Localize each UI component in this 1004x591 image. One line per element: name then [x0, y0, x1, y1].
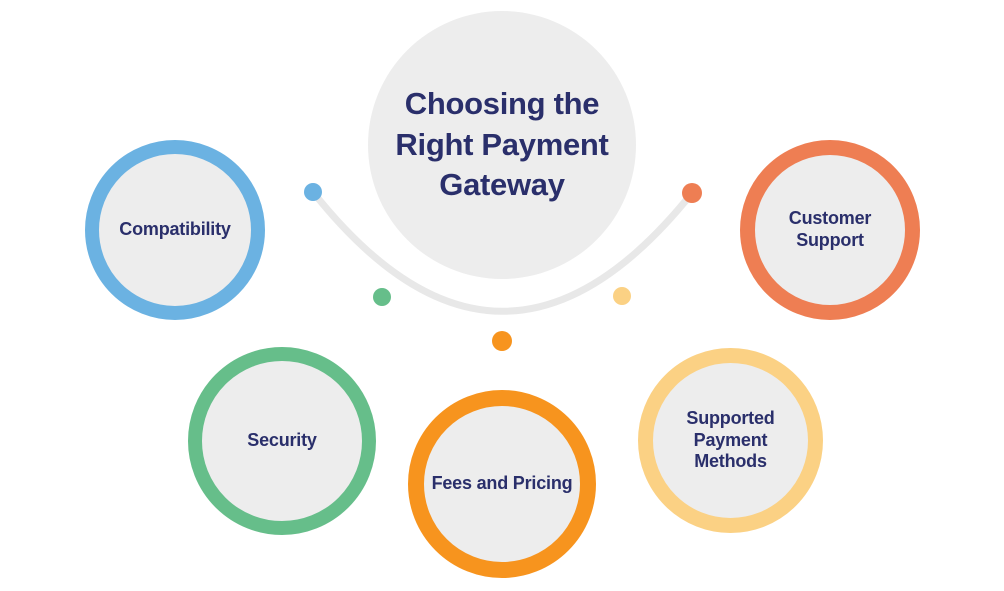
node-customer-support-label: Customer Support	[755, 208, 905, 252]
connector-dot-compatibility	[304, 183, 322, 201]
connector-dot-security	[373, 288, 391, 306]
node-compatibility-label: Compatibility	[113, 219, 236, 241]
center-hub-label: Choosing the Right Payment Gateway	[368, 84, 636, 207]
node-supported-payment-methods-label: Supported Payment Methods	[653, 408, 808, 474]
node-security-label: Security	[241, 430, 322, 452]
connector-dot-fees-pricing	[492, 331, 512, 351]
node-security[interactable]: Security	[188, 347, 376, 535]
infographic-canvas: Choosing the Right Payment Gateway Compa…	[0, 0, 1004, 591]
node-compatibility[interactable]: Compatibility	[85, 140, 265, 320]
node-customer-support[interactable]: Customer Support	[740, 140, 920, 320]
connector-dot-payment-methods	[613, 287, 631, 305]
connector-dot-customer-support	[682, 183, 702, 203]
node-supported-payment-methods[interactable]: Supported Payment Methods	[638, 348, 823, 533]
node-fees-and-pricing[interactable]: Fees and Pricing	[408, 390, 596, 578]
center-hub-circle: Choosing the Right Payment Gateway	[368, 11, 636, 279]
node-fees-and-pricing-label: Fees and Pricing	[426, 473, 579, 495]
